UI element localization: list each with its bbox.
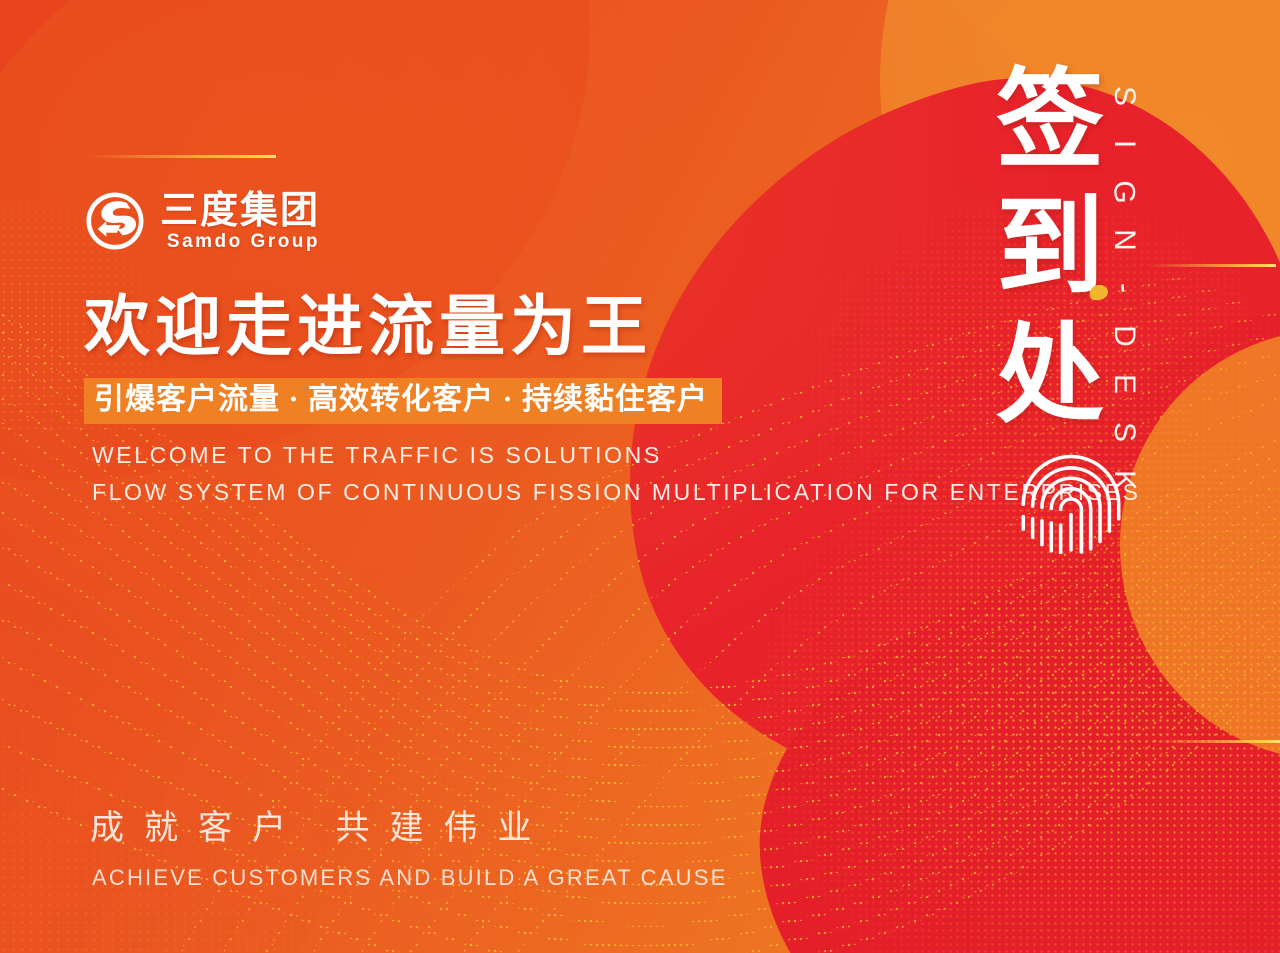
hero-subtitle-text: 引爆客户流量 · 高效转化客户 · 持续黏住客户 <box>94 383 708 417</box>
sign-desk-en-char-8: S <box>1109 422 1139 442</box>
hero-english-line-2: FLOW SYSTEM OF CONTINUOUS FISSION MULTIP… <box>92 474 1141 511</box>
hero-headline: 欢迎走进流量为王 <box>84 293 652 362</box>
brand-name-cn: 三度集团 <box>160 192 320 230</box>
footer-tagline-en: ACHIEVE CUSTOMERS AND BUILD A GREAT CAUS… <box>92 865 727 891</box>
sign-desk-char-3: 处 <box>985 313 1115 440</box>
hero-english-line-1: WELCOME TO THE TRAFFIC IS SOLUTIONS <box>92 437 1141 474</box>
brand-lockup: 三度集团 Samdo Group <box>84 190 320 252</box>
samdo-swoosh-logo-icon <box>84 190 146 252</box>
sign-desk-title-cn: 签 到 处 <box>985 58 1115 440</box>
sign-desk-en-char-1: S <box>1109 86 1139 106</box>
sign-desk-en-char-6: D <box>1109 325 1139 347</box>
fingerprint-icon <box>1018 442 1124 554</box>
signin-desk-poster: 三度集团 Samdo Group 欢迎走进流量为王 引爆客户流量 · 高效转化客… <box>0 0 1280 953</box>
sign-desk-en-char-5: - <box>1109 283 1139 293</box>
sign-desk-title-en: S I G N - D E S K <box>1112 72 1135 504</box>
hero-subtitle-band: 引爆客户流量 · 高效转化客户 · 持续黏住客户 <box>84 378 722 424</box>
hero-english-lines: WELCOME TO THE TRAFFIC IS SOLUTIONS FLOW… <box>92 437 1141 512</box>
sign-desk-en-char-2: I <box>1109 140 1139 148</box>
brand-wordmark: 三度集团 Samdo Group <box>160 192 320 251</box>
sign-desk-en-char-3: G <box>1109 180 1139 203</box>
sign-desk-en-char-4: N <box>1109 229 1139 251</box>
sign-desk-en-char-7: E <box>1109 374 1139 394</box>
footer-tagline-cn: 成就客户 共建伟业 <box>90 800 551 849</box>
poster-content: 三度集团 Samdo Group 欢迎走进流量为王 引爆客户流量 · 高效转化客… <box>0 0 1280 953</box>
sign-desk-char-1: 签 <box>985 58 1115 185</box>
brand-name-en: Samdo Group <box>160 232 320 251</box>
